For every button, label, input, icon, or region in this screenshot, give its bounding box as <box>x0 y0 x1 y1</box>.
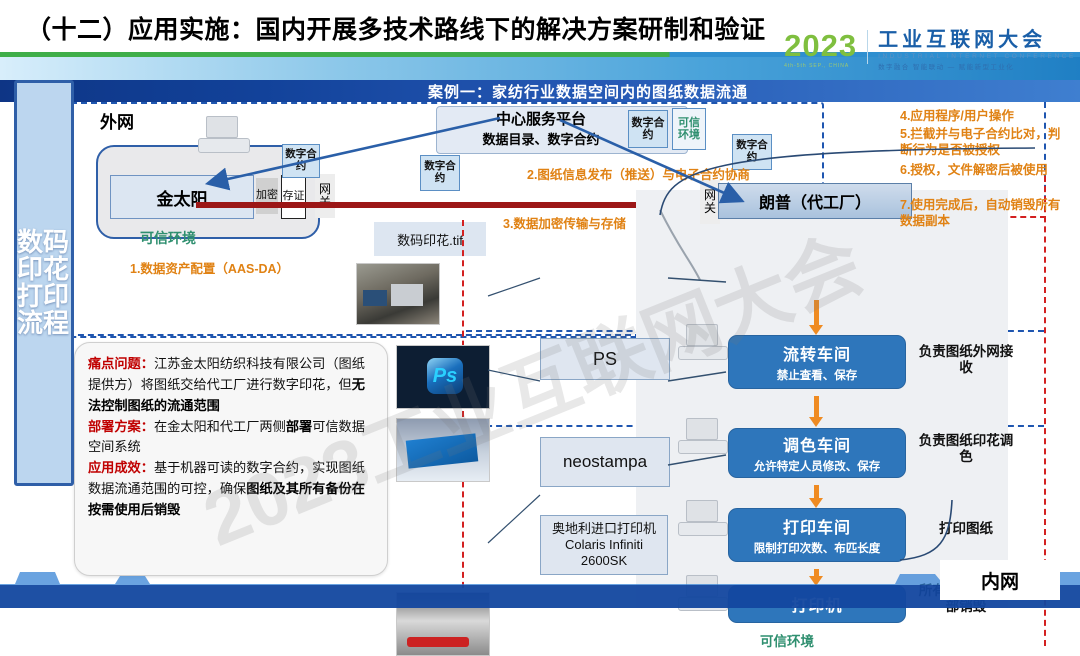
flow-arrow-4 <box>814 569 819 577</box>
case-title: 案例一：家纺行业数据空间内的图纸数据流通 <box>338 81 838 102</box>
flow-arrow-2 <box>814 396 819 418</box>
workshop-box-3: 打印车间 限制打印次数、布匹长度 <box>728 508 906 562</box>
annotation-2: 2.图纸信息发布（推送）与电子合约协商 <box>527 168 750 184</box>
deploy-bold: 部署 <box>286 419 312 434</box>
deploy-label: 部署方案： <box>88 419 154 434</box>
logo-divider <box>867 30 868 64</box>
annotation-3: 3.数据加密传输与存储 <box>503 217 626 233</box>
flow-arrow-3 <box>814 485 819 499</box>
workshop-3-name: 打印车间 <box>783 514 851 538</box>
photo-printing-machine <box>396 592 490 656</box>
workshop-1-note: 负责图纸外网接收 <box>918 344 1014 377</box>
workshop-4-name: 打印机 <box>791 592 842 616</box>
computer-icon-left <box>196 116 250 154</box>
annotation-6: 6.授权，文件解密后被使用 <box>900 163 1072 179</box>
summary-card-text: 痛点问题：江苏金太阳纺织科技有限公司（图纸提供方）将图纸交给代工厂进行数字印花，… <box>88 354 378 521</box>
right-gateway-label: 网关 <box>700 180 720 224</box>
external-network-label: 外网 <box>100 108 134 133</box>
file-label-tif: 数码印花.tif <box>374 222 486 256</box>
logo-title-cn: 工业互联网大会 <box>878 30 1076 51</box>
platform-title: 中心服务平台 <box>446 108 636 129</box>
contract-tag-left: 数字合约 <box>282 144 320 178</box>
photo-workstation <box>356 263 440 325</box>
conference-logo: 2023 4th-5th SEP., CHINA 工业互联网大会 INDUSTR… <box>784 30 1076 71</box>
computer-icon-workshop-1 <box>676 324 728 362</box>
encryption-badge: 加密 <box>256 178 278 214</box>
callout-neostampa: neostampa <box>540 437 670 487</box>
contract-tag-right: 数字合约 <box>732 134 772 170</box>
logo-year: 2023 <box>784 30 857 61</box>
pain-label: 痛点问题： <box>88 356 154 371</box>
workshop-3-rule: 限制打印次数、布匹长度 <box>754 540 881 556</box>
deploy-text-1: 在金太阳和代工厂两侧 <box>154 419 286 434</box>
workshop-box-2: 调色车间 允许特定人员修改、保存 <box>728 428 906 478</box>
internal-network-label: 内网 <box>940 560 1060 600</box>
workshop-2-name: 调色车间 <box>783 432 851 456</box>
workshop-box-4: 打印机 <box>728 585 906 623</box>
photo-photoshop-icon: Ps <box>396 345 490 409</box>
flow-arrow-1 <box>814 300 819 326</box>
factory-box-langpu: 朗普（代工厂） <box>718 183 912 219</box>
workshop-1-rule: 禁止查看、保存 <box>777 367 858 383</box>
workshop-1-name: 流转车间 <box>783 341 851 365</box>
computer-icon-printer <box>676 575 728 613</box>
right-trusted-environment-label: 可信环境 <box>760 630 814 650</box>
annotation-5: 5.拦截并与电子合约比对，判断行为是否被授权 <box>900 127 1072 158</box>
workshop-2-rule: 允许特定人员修改、保存 <box>754 458 881 474</box>
annotation-4: 4.应用程序/用户操作 <box>900 109 1014 125</box>
vertical-process-label-text: 数码印花打印流程 <box>17 229 71 337</box>
logo-tagline-cn: 数字融合 智能联动 — 赋能新型工业化 <box>878 61 1076 71</box>
platform-contract-tag: 数字合约 <box>628 110 668 148</box>
page-title: （十二）应用实施：国内开展多技术路线下的解决方案研制和验证 <box>26 10 766 46</box>
platform-trusted-env-tag: 可信环境 <box>672 108 706 150</box>
company-box-jintaiyang: 金太阳 <box>110 175 254 219</box>
computer-icon-workshop-2 <box>676 418 728 456</box>
internal-network-boundary-vertical <box>462 220 464 608</box>
platform-subtitle: 数据目录、数字合约 <box>440 129 642 148</box>
callout-printer: 奥地利进口打印机Colaris Infiniti 2600SK <box>540 515 668 575</box>
contract-tag-center: 数字合约 <box>420 155 460 191</box>
workshop-3-note: 打印图纸 <box>918 521 1014 537</box>
workshop-2-note: 负责图纸印花调色 <box>918 433 1014 466</box>
computer-icon-workshop-3 <box>676 500 728 538</box>
encrypted-transfer-arrow <box>196 202 696 208</box>
diagram-canvas: 案例一：家纺行业数据空间内的图纸数据流通 外网 金太阳 加密 存证 可信环境 网… <box>0 80 1080 608</box>
logo-title-en: INDUSTRIAL INTERNET CONFERENCE <box>878 53 1076 60</box>
workshop-box-1: 流转车间 禁止查看、保存 <box>728 335 906 389</box>
annotation-7: 7.使用完成后，自动销毁所有数据副本 <box>900 198 1072 229</box>
effect-label: 应用成效： <box>88 460 154 475</box>
annotation-1: 1.数据资产配置（AAS-DA） <box>130 262 289 278</box>
left-gateway-label: 网关 <box>315 174 335 218</box>
vertical-process-label: 数码印花打印流程 <box>14 80 74 486</box>
left-trusted-environment-label: 可信环境 <box>140 228 196 248</box>
logo-year-subtitle: 4th-5th SEP., CHINA <box>784 63 857 69</box>
notarization-badge: 存证 <box>281 175 306 219</box>
callout-ps: PS <box>540 338 670 380</box>
photo-neostampa-splash <box>396 418 490 482</box>
